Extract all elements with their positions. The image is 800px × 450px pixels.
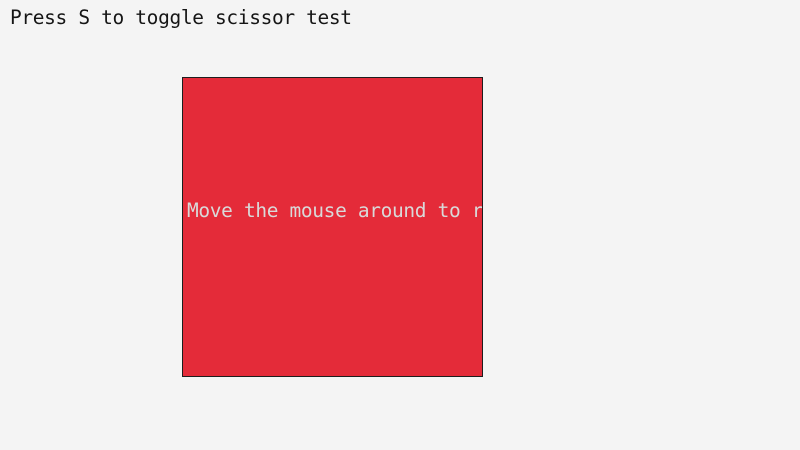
hud-instruction-text: Press S to toggle scissor test <box>10 6 352 30</box>
scissor-test-rectangle[interactable]: Move the mouse around to resize this rec… <box>182 77 483 377</box>
app-canvas[interactable]: Press S to toggle scissor test Move the … <box>0 0 800 450</box>
scissor-clipped-message: Move the mouse around to resize this rec… <box>187 199 483 223</box>
